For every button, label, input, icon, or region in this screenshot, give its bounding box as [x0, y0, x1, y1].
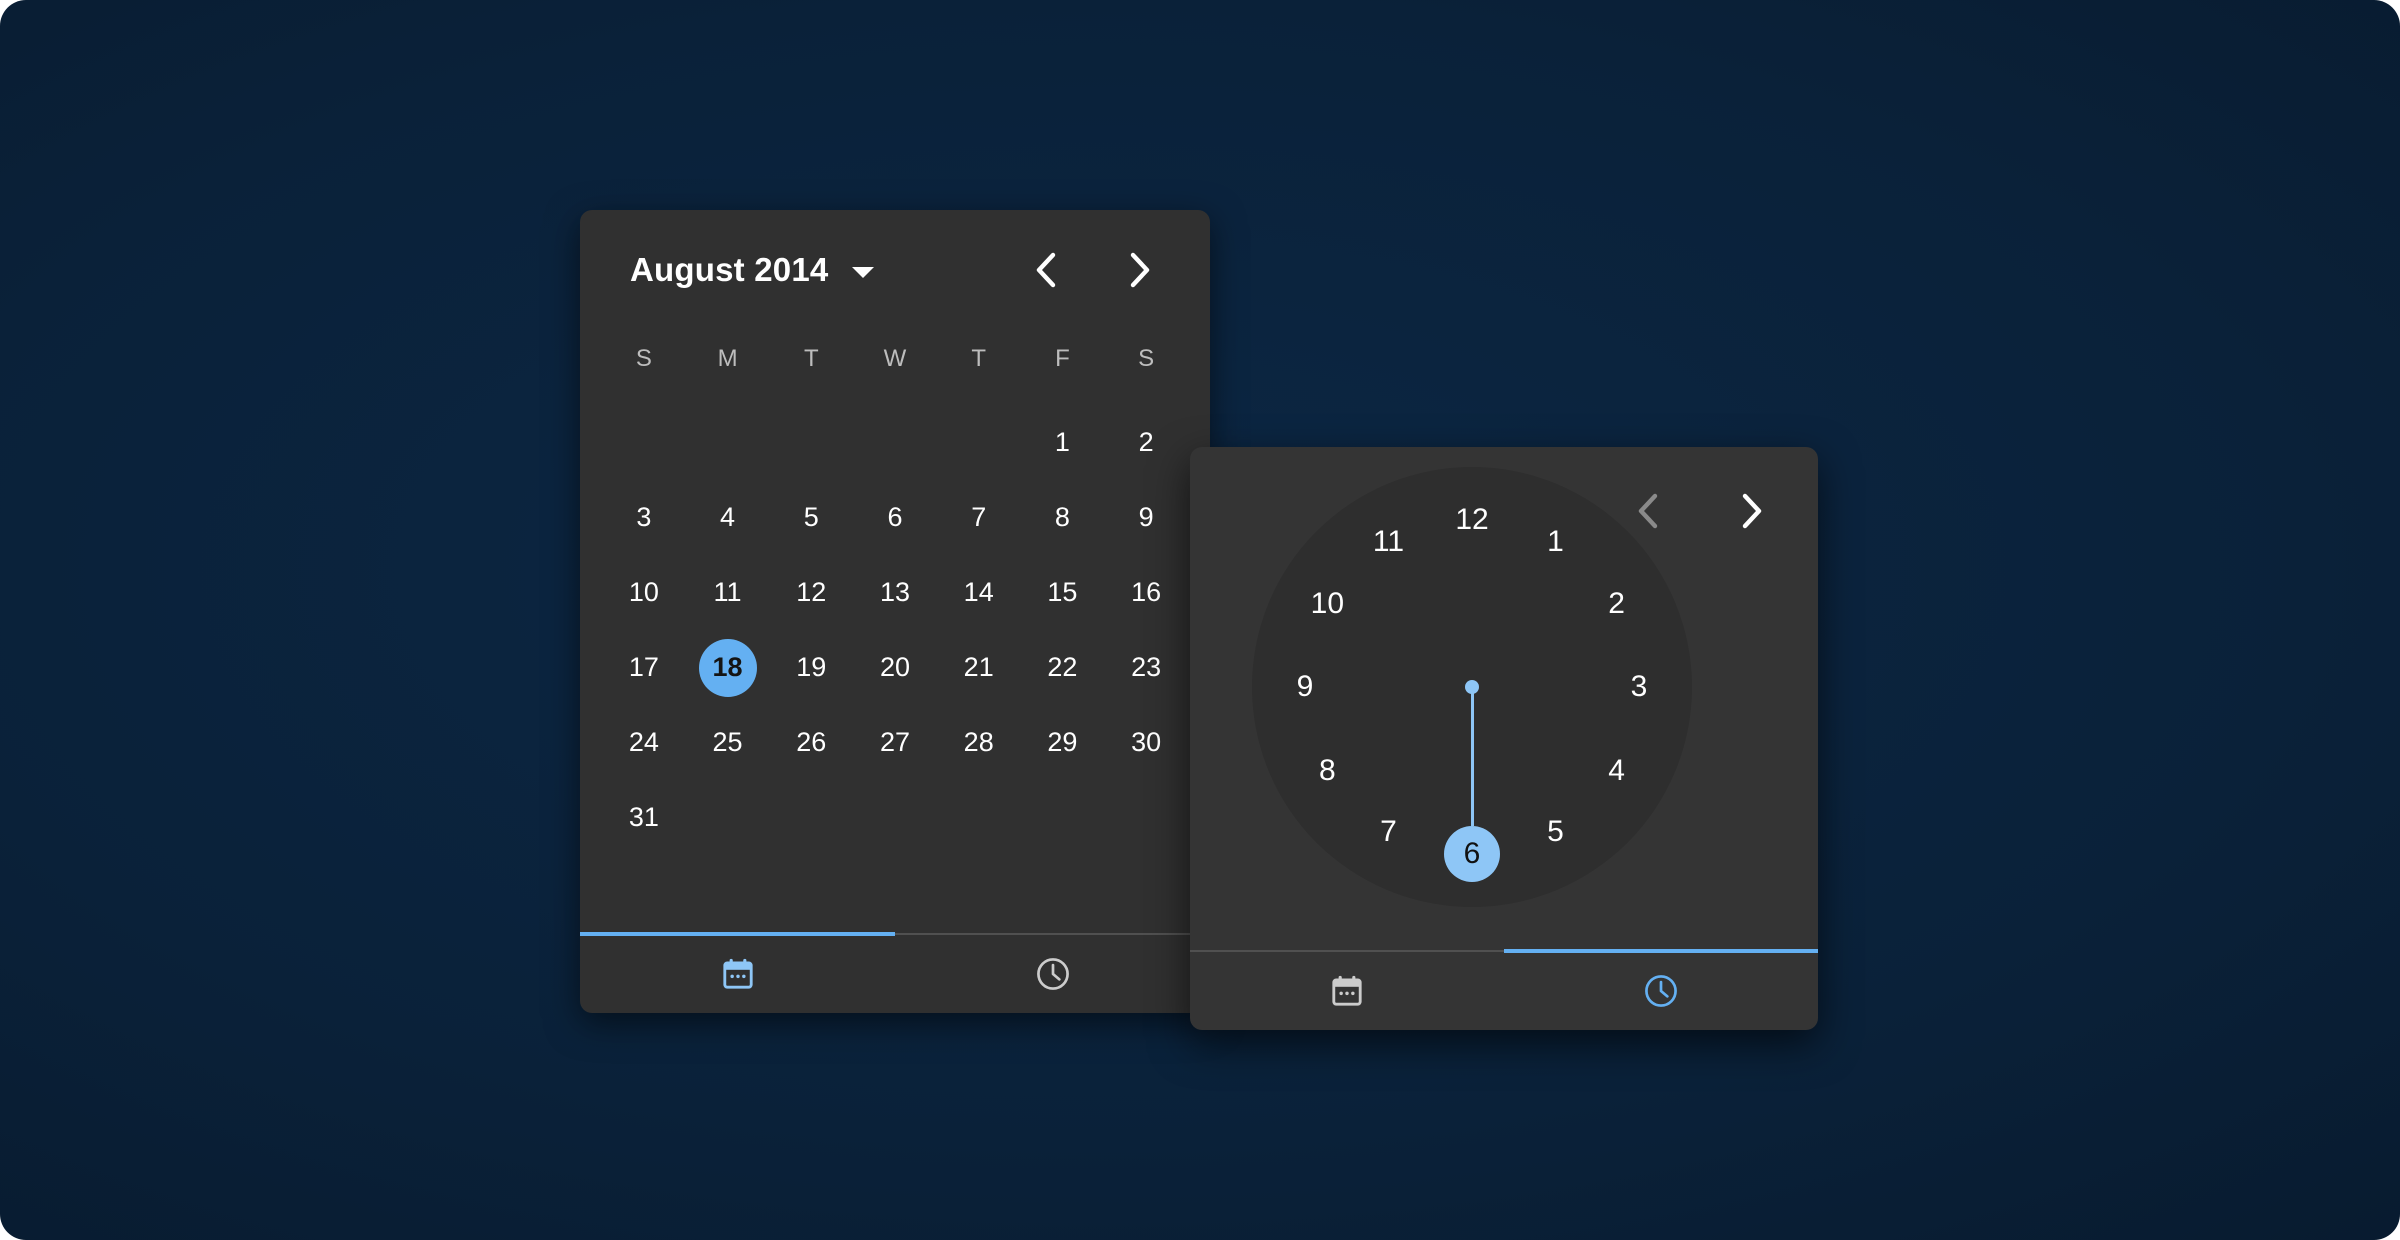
calendar-day-cell: 6 — [853, 480, 937, 555]
clock-nav — [1620, 483, 1780, 539]
clock-hour-8[interactable]: 8 — [1299, 743, 1355, 799]
calendar-day-cell: 7 — [937, 480, 1021, 555]
weekday-6: S — [1104, 345, 1188, 373]
app-root: August 2014 SMTWTFS — [0, 0, 2400, 1240]
weekday-0: S — [602, 345, 686, 373]
calendar-day[interactable]: 2 — [1117, 414, 1175, 472]
calendar-day-cell: 8 — [1021, 480, 1105, 555]
active-tab-underline — [1504, 949, 1818, 953]
calendar-blank-cell — [937, 405, 1021, 480]
empty-day — [615, 414, 673, 472]
caret-down-icon — [852, 267, 874, 278]
calendar-day[interactable]: 25 — [699, 714, 757, 772]
calendar-day[interactable]: 20 — [866, 639, 924, 697]
calendar-day-cell: 3 — [602, 480, 686, 555]
clock-hour-1[interactable]: 1 — [1528, 514, 1584, 570]
calendar-day[interactable]: 1 — [1033, 414, 1091, 472]
calendar-header: August 2014 — [580, 210, 1210, 330]
clock-hour-5[interactable]: 5 — [1528, 804, 1584, 860]
calendar-day[interactable]: 24 — [615, 714, 673, 772]
calendar-day[interactable]: 6 — [866, 489, 924, 547]
calendar-day-cell: 22 — [1021, 630, 1105, 705]
chevron-right-icon[interactable] — [1724, 483, 1780, 539]
calendar-title: August 2014 — [630, 251, 828, 289]
calendar-day[interactable]: 4 — [699, 489, 757, 547]
clock-hour-9[interactable]: 9 — [1277, 659, 1333, 715]
calendar-day-cell: 17 — [602, 630, 686, 705]
calendar-day[interactable]: 15 — [1033, 564, 1091, 622]
selected-day[interactable]: 18 — [699, 639, 757, 697]
calendar-day-cell: 18 — [686, 630, 770, 705]
selected-hour[interactable]: 6 — [1444, 826, 1500, 882]
calendar-day[interactable]: 10 — [615, 564, 673, 622]
time-picker-dialog: 121234567891011 AM PM — [1190, 447, 1818, 1030]
empty-day — [950, 414, 1008, 472]
calendar-day-cell: 29 — [1021, 705, 1105, 780]
calendar-day-cell: 5 — [769, 480, 853, 555]
weekday-5: F — [1021, 345, 1105, 373]
calendar-icon — [720, 956, 756, 992]
chevron-right-icon[interactable] — [1112, 242, 1168, 298]
clock-icon — [1642, 972, 1680, 1010]
calendar-day[interactable]: 19 — [782, 639, 840, 697]
calendar-day-cell: 13 — [853, 555, 937, 630]
calendar-day[interactable]: 28 — [950, 714, 1008, 772]
empty-day — [699, 414, 757, 472]
calendar-day-cell: 25 — [686, 705, 770, 780]
weekday-3: W — [853, 345, 937, 373]
calendar-day-cell: 16 — [1104, 555, 1188, 630]
calendar-icon — [1329, 973, 1365, 1009]
calendar-day-cell: 26 — [769, 705, 853, 780]
calendar-day[interactable]: 29 — [1033, 714, 1091, 772]
calendar-day[interactable]: 31 — [615, 789, 673, 847]
weekday-2: T — [769, 345, 853, 373]
calendar-day-cell: 23 — [1104, 630, 1188, 705]
clock-hour-11[interactable]: 11 — [1361, 514, 1417, 570]
tab-date[interactable] — [580, 935, 895, 1013]
calendar-day[interactable]: 11 — [699, 564, 757, 622]
calendar-day[interactable]: 21 — [950, 639, 1008, 697]
clock-hour-10[interactable]: 10 — [1299, 576, 1355, 632]
clock-icon — [1034, 955, 1072, 993]
calendar-day[interactable]: 16 — [1117, 564, 1175, 622]
clock-hour-7[interactable]: 7 — [1361, 804, 1417, 860]
calendar-day[interactable]: 9 — [1117, 489, 1175, 547]
weekday-4: T — [937, 345, 1021, 373]
calendar-day-cell: 20 — [853, 630, 937, 705]
calendar-day[interactable]: 13 — [866, 564, 924, 622]
calendar-blank-cell — [853, 405, 937, 480]
calendar-day-cell: 14 — [937, 555, 1021, 630]
calendar-day[interactable]: 23 — [1117, 639, 1175, 697]
calendar-blank-cell — [769, 405, 853, 480]
clock-hour-4[interactable]: 4 — [1589, 743, 1645, 799]
date-picker-dialog: August 2014 SMTWTFS — [580, 210, 1210, 1013]
clock-center-dot — [1465, 680, 1479, 694]
time-dialog-tabbar — [1190, 950, 1818, 1030]
calendar-day-cell: 12 — [769, 555, 853, 630]
calendar-day[interactable]: 30 — [1117, 714, 1175, 772]
calendar-nav — [1018, 242, 1210, 298]
calendar-day[interactable]: 14 — [950, 564, 1008, 622]
clock-hour-2[interactable]: 2 — [1589, 576, 1645, 632]
calendar-day-cell: 9 — [1104, 480, 1188, 555]
calendar-day-cell: 1 — [1021, 405, 1105, 480]
empty-day — [866, 414, 924, 472]
weekday-1: M — [686, 345, 770, 373]
calendar-day-cell: 4 — [686, 480, 770, 555]
clock-hand — [1471, 687, 1474, 826]
calendar-day[interactable]: 3 — [615, 489, 673, 547]
calendar-day-cell: 19 — [769, 630, 853, 705]
calendar-day[interactable]: 17 — [615, 639, 673, 697]
calendar-day-cell: 15 — [1021, 555, 1105, 630]
calendar-day-cell: 11 — [686, 555, 770, 630]
clock-hour-12[interactable]: 12 — [1444, 492, 1500, 548]
empty-day — [782, 414, 840, 472]
date-dialog-tabbar — [580, 933, 1210, 1013]
active-tab-underline — [580, 932, 895, 936]
weekday-header-row: SMTWTFS — [602, 345, 1188, 373]
calendar-blank-cell — [686, 405, 770, 480]
calendar-day[interactable]: 5 — [782, 489, 840, 547]
chevron-left-icon[interactable] — [1620, 483, 1676, 539]
calendar-day-cell: 28 — [937, 705, 1021, 780]
calendar-day-cell: 30 — [1104, 705, 1188, 780]
calendar-day[interactable]: 8 — [1033, 489, 1091, 547]
calendar-day[interactable]: 26 — [782, 714, 840, 772]
calendar-day[interactable]: 7 — [950, 489, 1008, 547]
clock-hour-3[interactable]: 3 — [1611, 659, 1667, 715]
chevron-left-icon[interactable] — [1018, 242, 1074, 298]
calendar-day-cell: 21 — [937, 630, 1021, 705]
calendar-day[interactable]: 12 — [782, 564, 840, 622]
calendar-day[interactable]: 22 — [1033, 639, 1091, 697]
tab-time[interactable] — [895, 935, 1210, 1013]
calendar-day-cell: 31 — [602, 780, 686, 855]
tab-date[interactable] — [1190, 952, 1504, 1030]
calendar-day-grid: 1234567891011121314151617181920212223242… — [602, 405, 1188, 855]
calendar-day-cell: 27 — [853, 705, 937, 780]
month-year-selector[interactable]: August 2014 — [630, 251, 874, 289]
calendar-day-cell: 2 — [1104, 405, 1188, 480]
calendar-blank-cell — [602, 405, 686, 480]
calendar-day[interactable]: 27 — [866, 714, 924, 772]
calendar-day-cell: 10 — [602, 555, 686, 630]
tab-time[interactable] — [1504, 952, 1818, 1030]
calendar-day-cell: 24 — [602, 705, 686, 780]
